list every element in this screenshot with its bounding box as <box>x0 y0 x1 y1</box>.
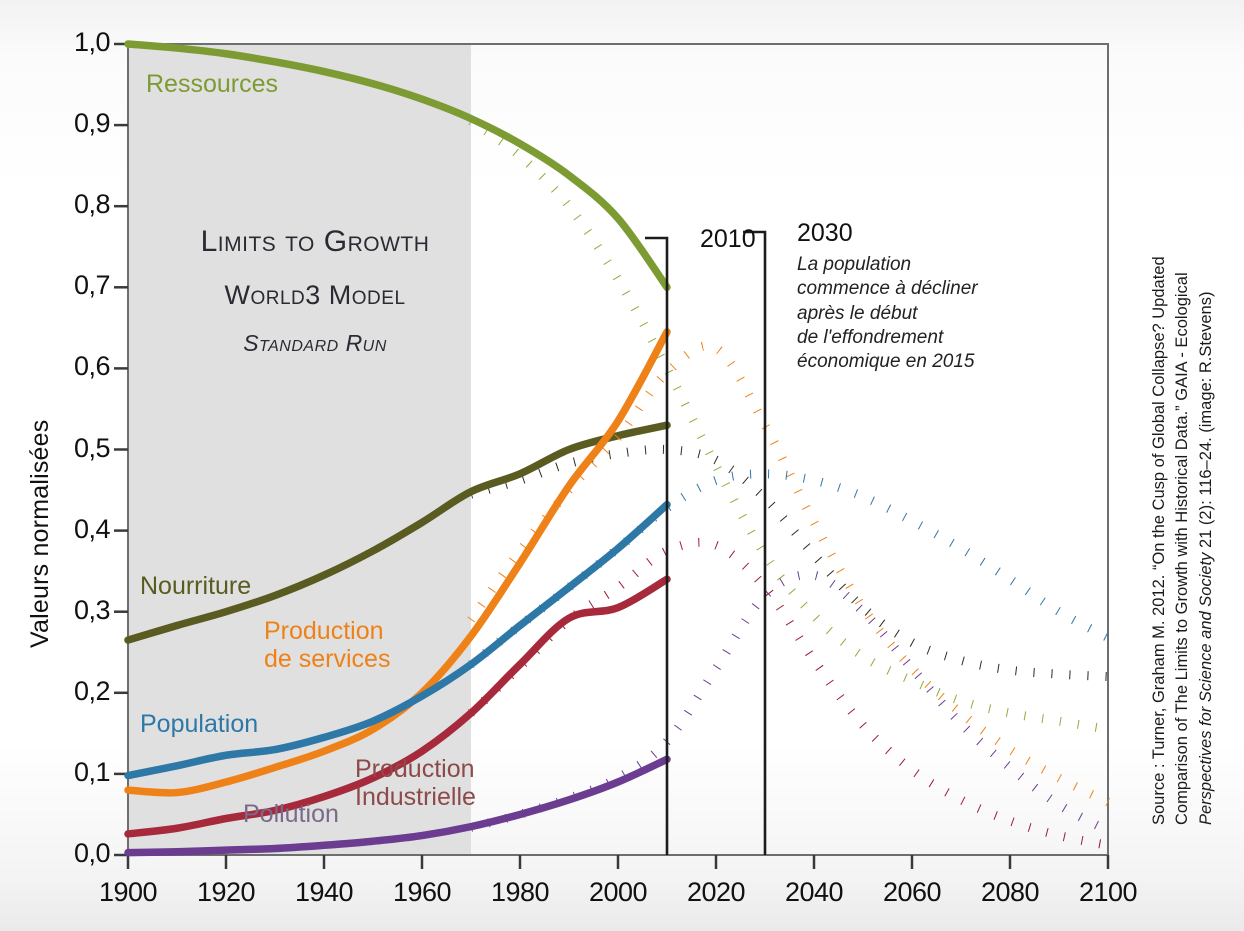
y-tick-label: 0,6 <box>34 351 110 382</box>
annotation-line: de l'effondrement <box>797 326 978 350</box>
annotation-line: commence à décliner <box>797 277 978 301</box>
year-label-2010: 2010 <box>700 225 756 254</box>
series-label-line: Production <box>264 617 390 645</box>
series-label-production-industrielle: ProductionIndustrielle <box>355 755 476 811</box>
series-projection-dotted <box>471 575 1108 831</box>
y-tick-label: 0,0 <box>34 838 110 869</box>
series-label-line: Production <box>355 755 476 783</box>
y-axis-title: Valeurs normalisées <box>26 420 55 648</box>
x-tick-label: 2100 <box>1058 877 1158 908</box>
x-tick-label: 2040 <box>764 877 864 908</box>
series-projection-dotted <box>471 474 1108 665</box>
series-label-line: de services <box>264 645 390 673</box>
annotation-line: La population <box>797 253 978 277</box>
annotation-line: économique en 2015 <box>797 350 978 374</box>
x-tick-label: 2020 <box>666 877 766 908</box>
y-tick-label: 0,2 <box>34 676 110 707</box>
source-line-3: Perspectives for Science and Society 21 … <box>1195 256 1218 825</box>
source-line-3-rest: 21 (2): 116–24. (image: R.Stevens) <box>1197 292 1215 553</box>
series-label-line: Nourriture <box>140 572 251 600</box>
series-label-ressources: Ressources <box>146 70 278 98</box>
chart-title: Limits to Growth <box>170 225 460 259</box>
chart-subtitle: World3 Model <box>170 280 460 311</box>
series-projection-dotted <box>471 346 1108 802</box>
y-tick-label: 0,7 <box>34 270 110 301</box>
series-label-nourriture: Nourriture <box>140 572 251 600</box>
series-label-line: Pollution <box>243 800 339 828</box>
x-tick-label: 1960 <box>372 877 472 908</box>
source-citation: Source : Turner, Graham M. 2012. “On the… <box>1148 256 1218 825</box>
series-label-population: Population <box>140 710 258 738</box>
x-tick-label: 1900 <box>78 877 178 908</box>
x-tick-label: 2000 <box>568 877 668 908</box>
x-tick-label: 1940 <box>274 877 374 908</box>
chart-canvas <box>0 0 1244 931</box>
year-marker-2030 <box>743 232 765 855</box>
year-label-2030: 2030 <box>797 219 853 248</box>
series-projection-dotted <box>471 121 1108 729</box>
chart-figure: 0,00,10,20,30,40,50,60,70,80,91,01900192… <box>0 0 1244 931</box>
y-tick-label: 0,8 <box>34 189 110 220</box>
series-label-pollution: Pollution <box>243 800 339 828</box>
x-tick-label: 1920 <box>176 877 276 908</box>
x-tick-label: 2080 <box>960 877 1060 908</box>
annotation-line: après le début <box>797 302 978 326</box>
y-tick-label: 0,1 <box>34 757 110 788</box>
series-label-line: Industrielle <box>355 783 476 811</box>
source-line-2: Comparison of The Limits to Growth with … <box>1171 256 1194 825</box>
series-label-line: Population <box>140 710 258 738</box>
source-line-1: Source : Turner, Graham M. 2012. “On the… <box>1148 256 1171 825</box>
source-journal-name: Perspectives for Science and Society <box>1197 553 1215 825</box>
chart-subtitle-run: Standard Run <box>170 330 460 357</box>
y-tick-label: 0,9 <box>34 108 110 139</box>
x-tick-label: 2060 <box>862 877 962 908</box>
series-label-production-de-services: Productionde services <box>264 617 390 673</box>
x-tick-label: 1980 <box>470 877 570 908</box>
series-label-line: Ressources <box>146 70 278 98</box>
annotation-population-decline: La populationcommence à déclineraprès le… <box>797 253 978 375</box>
y-tick-label: 1,0 <box>34 27 110 58</box>
